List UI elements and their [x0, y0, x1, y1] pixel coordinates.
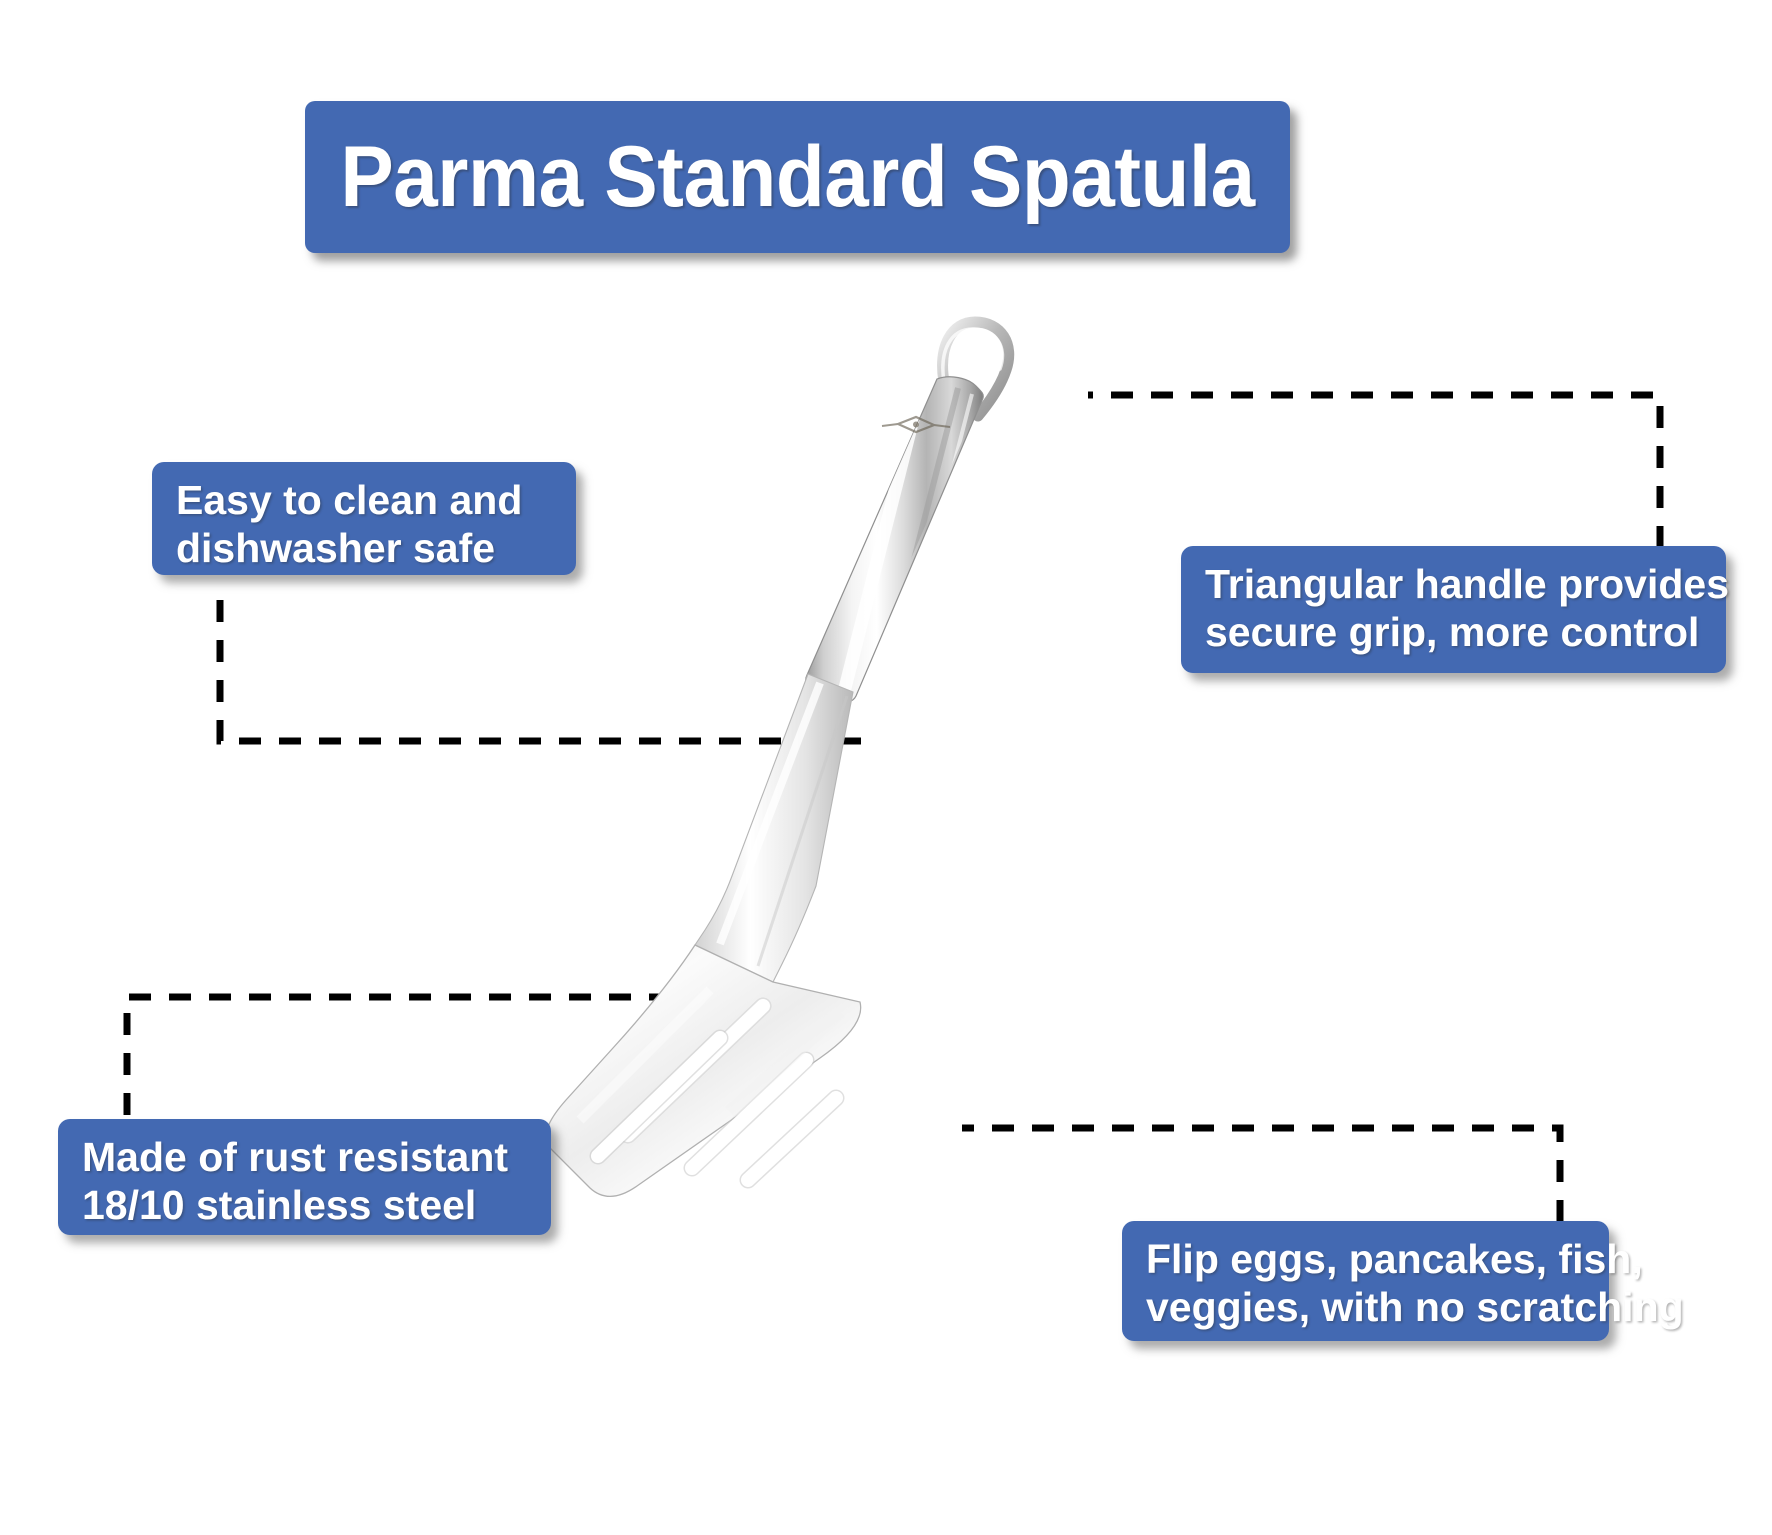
spatula-illustration — [520, 300, 1040, 1230]
callout-material-line2: 18/10 stainless steel — [82, 1182, 527, 1230]
callout-flip-line1: Flip eggs, pancakes, fish, — [1146, 1236, 1585, 1284]
callout-material-line1: Made of rust resistant — [82, 1134, 527, 1182]
callout-handle: Triangular handle provides secure grip, … — [1181, 546, 1726, 673]
callout-dishwasher-line2: dishwasher safe — [176, 525, 552, 573]
neck — [695, 674, 853, 982]
page-title-banner: Parma Standard Spatula — [305, 101, 1290, 253]
connector-handle — [1088, 395, 1660, 548]
infographic-page: Parma Standard Spatula — [0, 0, 1772, 1535]
connector-flip — [962, 1128, 1560, 1222]
callout-flip: Flip eggs, pancakes, fish, veggies, with… — [1122, 1221, 1609, 1341]
callout-handle-line2: secure grip, more control — [1205, 609, 1702, 657]
callout-dishwasher: Easy to clean and dishwasher safe — [152, 462, 576, 575]
callout-material: Made of rust resistant 18/10 stainless s… — [58, 1119, 551, 1235]
page-title: Parma Standard Spatula — [340, 134, 1254, 220]
blade — [546, 945, 861, 1196]
callout-handle-line1: Triangular handle provides — [1205, 561, 1702, 609]
callout-flip-line2: veggies, with no scratching — [1146, 1284, 1585, 1332]
handle — [806, 376, 984, 714]
callout-dishwasher-line1: Easy to clean and — [176, 477, 552, 525]
